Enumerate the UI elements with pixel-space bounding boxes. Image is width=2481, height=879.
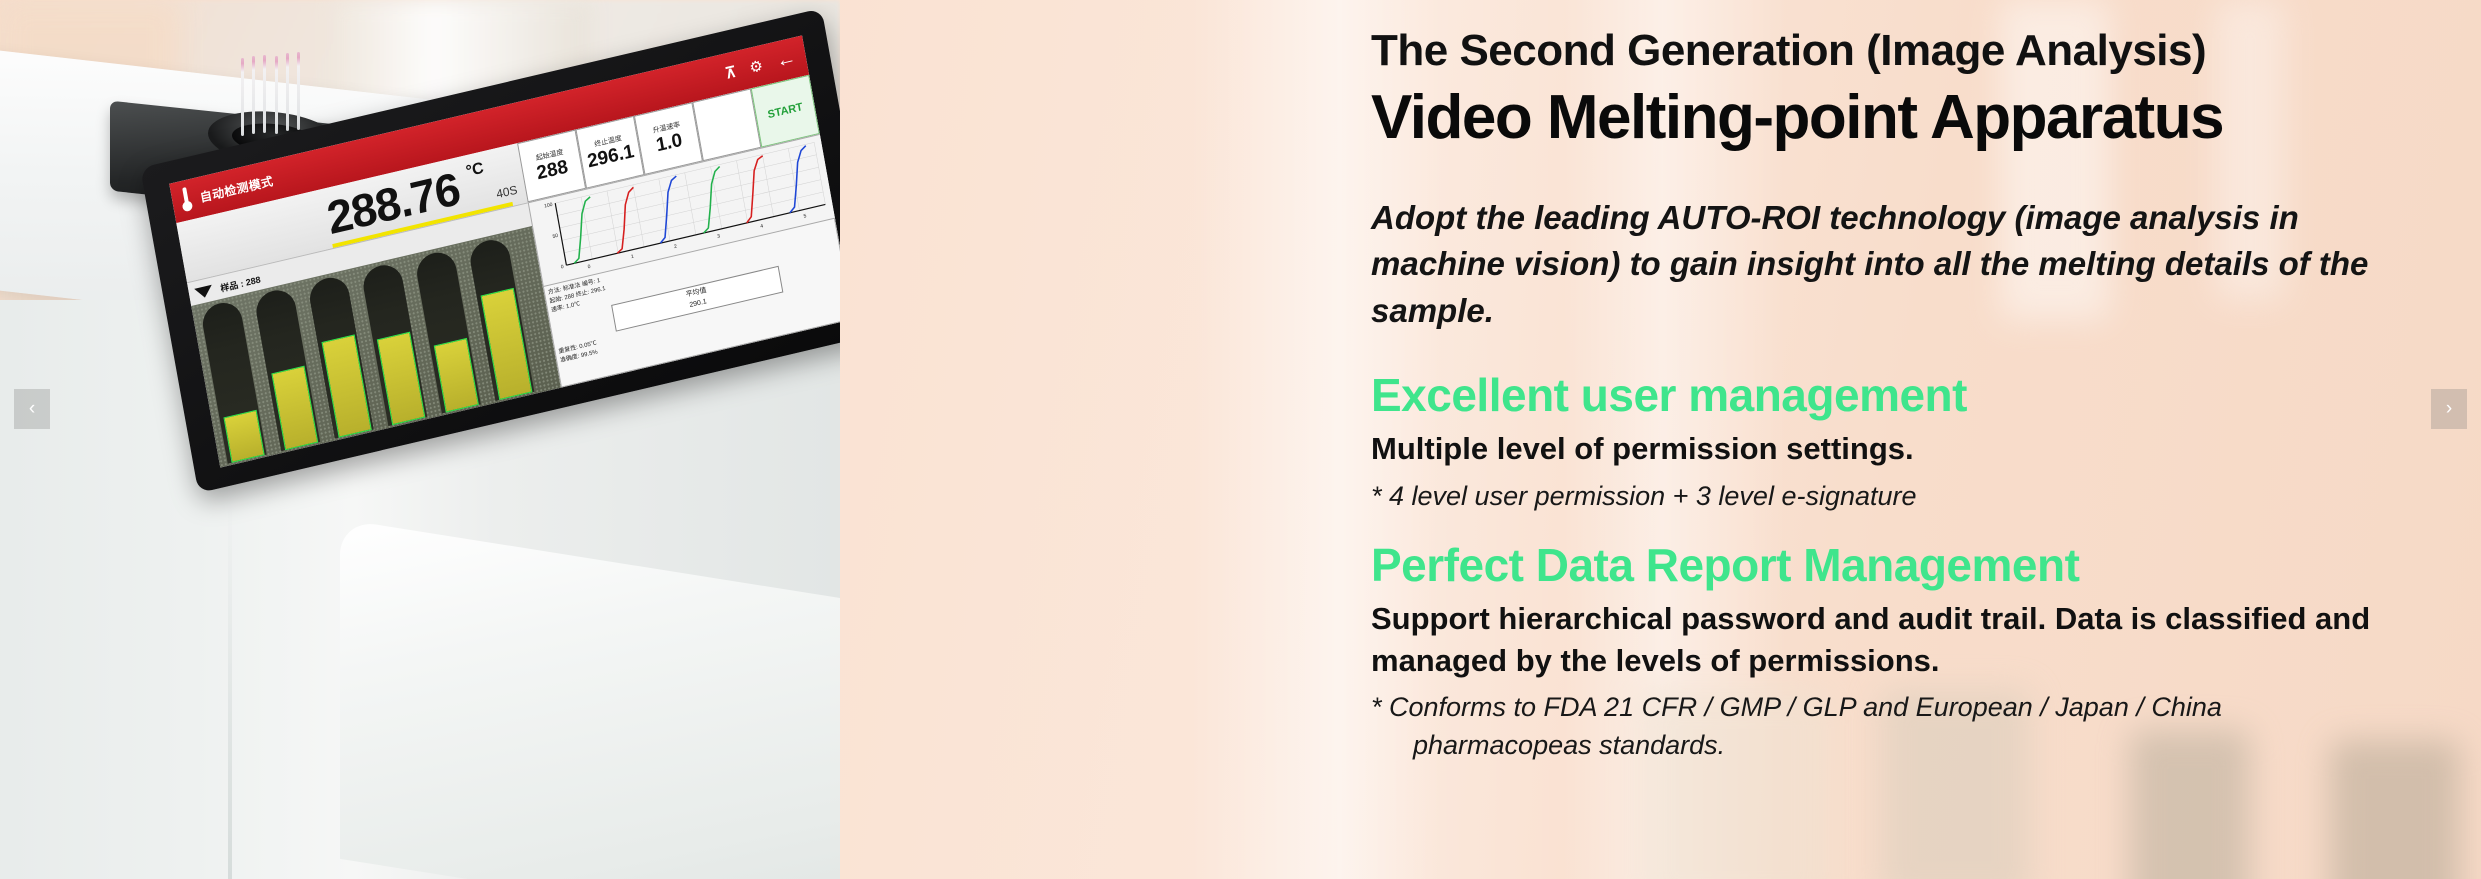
elapsed-timer: 40S [495,183,518,202]
svg-text:3: 3 [717,233,721,240]
feature-heading-2: Perfect Data Report Management [1371,538,2431,592]
field-value: 296.1 [586,141,636,174]
capillary-tube [275,56,278,134]
product-banner: 自动检测模式 ⊼ ⚙ ← 288.76 °C 40S 起始温度 288 [0,0,2481,879]
capillary-tube [241,58,244,136]
feature-note-2: * Conforms to FDA 21 CFR / GMP / GLP and… [1371,689,2411,765]
melting-curve-icon[interactable]: ⊼ [724,62,738,82]
down-triangle-marker [194,284,213,299]
feature-note-2-line1: * Conforms to FDA 21 CFR / GMP / GLP and… [1371,692,2222,722]
banner-copy: The Second Generation (Image Analysis) V… [1371,0,2431,879]
capillary-tube [263,55,266,133]
svg-text:100: 100 [544,202,553,210]
svg-text:2: 2 [674,243,678,250]
temperature-unit: °C [465,160,486,182]
feature-note-2-line2: pharmacopeas standards. [1371,727,2411,765]
carousel-next-button[interactable]: › [2431,389,2467,429]
carousel-prev-button[interactable]: ‹ [14,389,50,429]
capillary-tube [286,53,289,131]
svg-text:1: 1 [630,254,634,261]
feature-body-2: Support hierarchical password and audit … [1371,598,2411,682]
instrument-photo: 自动检测模式 ⊼ ⚙ ← 288.76 °C 40S 起始温度 288 [0,0,840,879]
field-value: 1.0 [654,130,684,158]
back-arrow-icon[interactable]: ← [774,46,798,73]
banner-lede: Adopt the leading AUTO-ROI technology (i… [1371,195,2401,336]
gear-icon[interactable]: ⚙ [748,56,764,77]
thermometer-icon [178,186,194,214]
feature-body-1: Multiple level of permission settings. [1371,428,2411,470]
page-title: Video Melting-point Apparatus [1371,82,2431,153]
svg-text:0: 0 [587,264,591,271]
svg-text:0: 0 [560,264,564,271]
screen-mode-label: 自动检测模式 [199,172,275,206]
feature-note-1: * 4 level user permission + 3 level e-si… [1371,478,2411,516]
banner-kicker: The Second Generation (Image Analysis) [1371,26,2431,76]
sample-roi-box [223,410,264,463]
capillary-tube [252,56,255,134]
capillary-tube [297,52,300,130]
svg-text:50: 50 [552,233,559,240]
svg-text:5: 5 [803,213,807,220]
svg-text:4: 4 [760,223,764,230]
feature-heading-1: Excellent user management [1371,368,2431,422]
